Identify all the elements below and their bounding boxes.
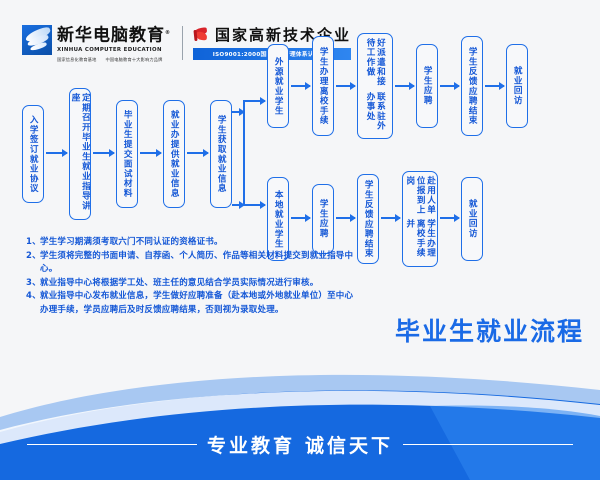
flow-node-t3-col2: 好派遣和接待工作做	[365, 38, 386, 92]
flow-node-b4[interactable]: 学生办理离校手续并 赴用人单位报到上岗	[402, 171, 438, 267]
flow-node-t2[interactable]: 学生办理离校手续	[312, 36, 334, 136]
note-text: 就业指导中心将根据学工处、班主任的意见结合学员实际情况进行审核。	[40, 277, 356, 291]
note-item: 1、 学生学习期满须考取六门不同认证的资格证书。	[26, 236, 356, 250]
flow-node-t3[interactable]: 联系驻外办事处 好派遣和接待工作做	[357, 33, 393, 139]
flow-arrow	[140, 152, 161, 154]
flow-node-t1[interactable]: 外源就业学生	[267, 44, 289, 128]
note-number: 1、	[26, 236, 40, 250]
flow-node-b4-col1: 学生办理离校手续并	[404, 219, 435, 262]
flow-arrow	[485, 85, 504, 87]
footer-slogan: 专业教育 诚信天下	[0, 431, 600, 458]
note-item: 4、 就业指导中心发布就业信息，学生做好应聘准备（赴本地或外地就业单位）至中心办…	[26, 290, 356, 317]
flow-arrow	[291, 217, 310, 219]
flow-arrow	[336, 85, 355, 87]
flow-node-b4-col2: 赴用人单位报到上岗	[404, 176, 435, 219]
flow-arrow	[243, 100, 265, 102]
note-number: 4、	[26, 290, 40, 317]
flow-arrow	[395, 85, 414, 87]
note-item: 3、 就业指导中心将根据学工处、班主任的意见结合学员实际情况进行审核。	[26, 277, 356, 291]
note-item: 2、 学生须将完整的书面申请、自荐函、个人简历、作品等相关材料提交到就业指导中心…	[26, 250, 356, 277]
note-text: 就业指导中心发布就业信息，学生做好应聘准备（赴本地或外地就业单位）至中心办理手续…	[40, 290, 356, 317]
page-title: 毕业生就业流程	[395, 312, 584, 348]
poster-canvas: 新华电脑教育® XINHUA COMPUTER EDUCATION 国家信息化教…	[0, 0, 600, 480]
flow-node-n4[interactable]: 就业办提供就业信息	[163, 100, 185, 208]
note-number: 2、	[26, 250, 40, 277]
note-text: 学生须将完整的书面申请、自荐函、个人简历、作品等相关材料提交到就业指导中心。	[40, 250, 356, 277]
flow-node-n2[interactable]: 定期召开毕业生就业指导讲座	[69, 88, 91, 220]
flow-arrow	[336, 217, 355, 219]
notes-list: 1、 学生学习期满须考取六门不同认证的资格证书。 2、 学生须将完整的书面申请、…	[26, 236, 356, 318]
flow-node-n5[interactable]: 学生获取就业信息	[210, 100, 232, 208]
flow-arrow	[232, 111, 244, 113]
flow-node-b3[interactable]: 学生反馈应聘结束	[357, 174, 379, 264]
slogan-text-right: 诚信天下	[305, 431, 393, 458]
employment-flowchart: 入学签订就业协议 定期召开毕业生就业指导讲座 毕业生提交面试材料 就业办提供就业…	[0, 0, 600, 260]
flow-node-t4[interactable]: 学生应聘	[416, 44, 438, 128]
slogan-rule-right	[403, 444, 573, 445]
flow-arrow	[93, 152, 114, 154]
wave-decoration	[0, 360, 600, 480]
flow-arrow	[440, 85, 459, 87]
flow-node-t6[interactable]: 就业回访	[506, 44, 528, 128]
flow-node-n1[interactable]: 入学签订就业协议	[22, 105, 44, 203]
flow-node-t5[interactable]: 学生反馈应聘结束	[461, 36, 483, 136]
flow-node-b5[interactable]: 就业回访	[461, 177, 483, 261]
flow-arrow	[381, 217, 400, 219]
flow-arrow	[243, 204, 265, 206]
note-number: 3、	[26, 277, 40, 291]
note-text: 学生学习期满须考取六门不同认证的资格证书。	[40, 236, 356, 250]
flow-node-n3[interactable]: 毕业生提交面试材料	[116, 100, 138, 208]
flow-arrow	[291, 85, 310, 87]
flow-arrow	[440, 217, 459, 219]
flow-arrow	[46, 152, 67, 154]
slogan-text-left: 专业教育	[207, 431, 295, 458]
flow-arrow	[187, 152, 208, 154]
flow-node-t3-col1: 联系驻外办事处	[365, 92, 386, 134]
slogan-rule-left	[27, 444, 197, 445]
